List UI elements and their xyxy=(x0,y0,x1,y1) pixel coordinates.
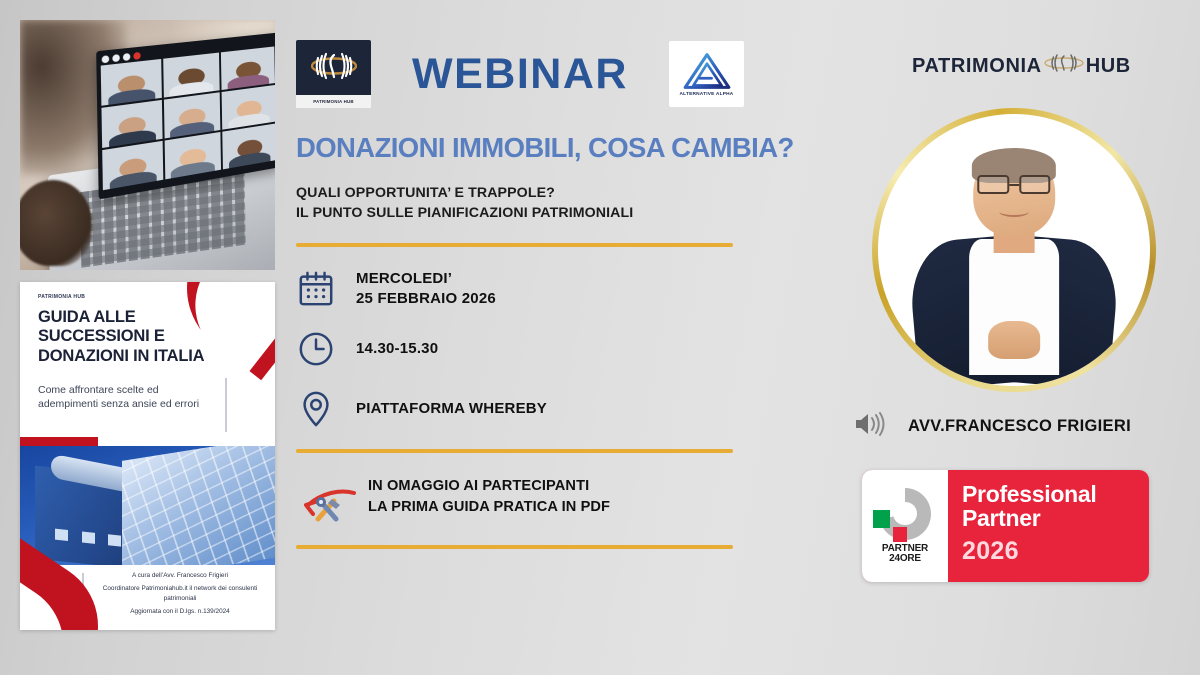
tools-icon xyxy=(316,497,340,519)
participant-tile xyxy=(101,59,162,106)
hand-on-trackpad xyxy=(20,180,92,266)
logo-caption: ALTERNATIVE ALPHA xyxy=(680,92,734,97)
gift-offer-text: IN OMAGGIO AI PARTECIPANTI LA PRIMA GUID… xyxy=(368,476,610,517)
window xyxy=(109,535,122,547)
divider-gold-bottom xyxy=(296,545,733,549)
event-details-column: PATRIMONIA HUB WEBINAR ALTERNATIVE ALPHA… xyxy=(296,38,744,549)
event-time-text: 14.30-15.30 xyxy=(356,339,438,359)
participant-tile xyxy=(163,53,220,98)
partner-line-2: 24ORE xyxy=(882,554,928,565)
speaker-portrait xyxy=(872,108,1156,392)
pie-hole xyxy=(893,502,917,526)
red-square xyxy=(893,527,908,542)
smile xyxy=(999,206,1029,217)
book-subtitle: Come affrontare scelte ed adempimenti se… xyxy=(38,384,213,412)
window xyxy=(55,529,68,541)
call-control-dot xyxy=(123,52,130,60)
logo-caption: PATRIMONIA HUB xyxy=(296,95,371,108)
wordmark-right: HUB xyxy=(1086,55,1131,78)
location-pin-icon xyxy=(296,389,336,429)
gift-offer-row: IN OMAGGIO AI PARTECIPANTI LA PRIMA GUID… xyxy=(296,471,744,523)
patrimonia-hub-wordmark: PATRIMONIA HUB xyxy=(912,52,1131,80)
event-location-text: PIATTAFORMA WHEREBY xyxy=(356,399,547,419)
wordmark-left: PATRIMONIA xyxy=(912,55,1042,78)
book-credits-text: A cura dell’Avv. Francesco Frigieri Coor… xyxy=(94,571,266,620)
participant-tile xyxy=(223,123,275,169)
event-location-row: PIATTAFORMA WHEREBY xyxy=(296,389,744,429)
pie-chart-icon xyxy=(879,488,931,540)
patrimonia-hub-logo: PATRIMONIA HUB xyxy=(296,40,371,108)
green-square xyxy=(873,510,891,528)
event-date: 25 FEBBRAIO 2026 xyxy=(356,289,496,309)
event-weekday: MERCOLEDI’ xyxy=(356,269,496,289)
event-date-text: MERCOLEDI’ 25 FEBBRAIO 2026 xyxy=(356,269,496,309)
alternative-alpha-logo: ALTERNATIVE ALPHA xyxy=(669,41,744,107)
badge-year: 2026 xyxy=(962,537,1145,566)
book-photo-glass-facade xyxy=(122,446,275,565)
speaker-icon xyxy=(852,410,886,443)
header-row: PATRIMONIA HUB WEBINAR ALTERNATIVE ALPHA xyxy=(296,38,744,110)
page-title: DONAZIONI IMMOBILI, COSA CAMBIA? xyxy=(296,134,744,162)
speaker-name: AVV.FRANCESCO FRIGIERI xyxy=(908,417,1131,436)
participant-tile xyxy=(164,132,221,180)
soundwave-icon xyxy=(311,49,357,83)
calendar-icon xyxy=(296,269,336,309)
event-time-row: 14.30-15.30 xyxy=(296,329,744,369)
badge-title-line-2: Partner xyxy=(962,506,1145,530)
gift-line-1: IN OMAGGIO AI PARTECIPANTI xyxy=(368,476,610,497)
book-building-photo xyxy=(20,446,275,565)
glasses-icon xyxy=(977,175,1050,194)
participant-tile xyxy=(101,100,162,148)
penrose-triangle-icon xyxy=(681,51,733,91)
clock-icon xyxy=(296,329,336,369)
participant-tile xyxy=(221,46,275,90)
subtitle-block: QUALI OPPORTUNITA’ E TRAPPOLE? IL PUNTO … xyxy=(296,183,744,223)
call-control-dot xyxy=(112,54,120,62)
divider-gold-top xyxy=(296,243,733,247)
book-red-bar xyxy=(20,437,98,446)
speaker-column: PATRIMONIA HUB xyxy=(840,0,1170,675)
professional-partner-badge: PARTNER 24ORE Professional Partner 2026 xyxy=(862,470,1149,582)
book-credit-role: Coordinatore Patrimoniahub.it il network… xyxy=(94,584,266,603)
speaker-name-row: AVV.FRANCESCO FRIGIERI xyxy=(852,410,1131,443)
webinar-label: WEBINAR xyxy=(371,53,669,96)
call-control-dot xyxy=(102,55,110,63)
left-media-column: PATRIMONIA HUB GUIDA ALLE SUCCESSIONI E … xyxy=(20,20,275,630)
participant-tile xyxy=(102,141,163,190)
divider-gold-middle xyxy=(296,449,733,453)
book-credit-author: A cura dell’Avv. Francesco Frigieri xyxy=(94,571,266,580)
badge-title-line-1: Professional xyxy=(962,482,1145,506)
subtitle-line-2: IL PUNTO SULLE PIANIFICAZIONI PATRIMONIA… xyxy=(296,203,744,223)
book-cover-image: PATRIMONIA HUB GUIDA ALLE SUCCESSIONI E … xyxy=(20,282,275,630)
event-info-list: MERCOLEDI’ 25 FEBBRAIO 2026 14.30-15.30 … xyxy=(296,269,744,429)
book-logo: PATRIMONIA HUB xyxy=(38,294,85,300)
book-credit-update: Aggiornata con il D.lgs. n.139/2024 xyxy=(94,607,266,616)
window xyxy=(82,532,95,544)
end-call-dot xyxy=(133,51,140,59)
book-title: GUIDA ALLE SUCCESSIONI E DONAZIONI IN IT… xyxy=(38,308,228,366)
laptop-video-call-photo xyxy=(20,20,275,270)
participant-tile xyxy=(164,92,221,138)
gold-ring-frame xyxy=(872,108,1156,392)
participant-tile xyxy=(222,85,275,130)
speaker-photo xyxy=(878,114,1150,386)
subtitle-line-1: QUALI OPPORTUNITA’ E TRAPPOLE? xyxy=(296,183,744,203)
partner-24ore-text: PARTNER 24ORE xyxy=(882,544,928,565)
gift-icon-group xyxy=(296,471,358,523)
soundwave-icon xyxy=(1044,52,1084,80)
clasped-hands xyxy=(988,321,1040,359)
gift-line-2: LA PRIMA GUIDA PRATICA IN PDF xyxy=(368,497,610,518)
video-participant-grid xyxy=(101,46,275,190)
partner-24ore-logo: PARTNER 24ORE xyxy=(862,470,948,582)
badge-title-area: Professional Partner 2026 xyxy=(948,470,1149,582)
book-divider xyxy=(225,378,227,432)
event-date-row: MERCOLEDI’ 25 FEBBRAIO 2026 xyxy=(296,269,744,309)
